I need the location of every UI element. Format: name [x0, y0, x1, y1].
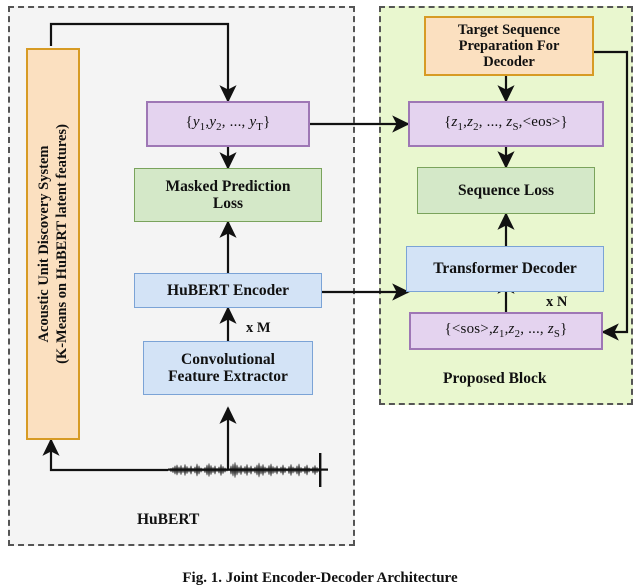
target-sequence-preparation-box[interactable]: Target Sequence Preparation For Decoder [424, 16, 594, 76]
aud-box-label: Acoustic Unit Discovery System (K-Means … [35, 51, 71, 437]
sequence-loss-label: Sequence Loss [458, 182, 554, 199]
target-sequence-label: {z1,z2, ..., zS,<eos>} [444, 114, 568, 133]
hubert-targets-label: {y1,y2, ..., yT} [185, 114, 270, 133]
prep-line-1: Target Sequence [458, 22, 560, 38]
transformer-decoder-box[interactable]: Transformer Decoder [406, 246, 604, 292]
hubert-panel-label: HuBERT [137, 511, 199, 529]
transformer-decoder-label: Transformer Decoder [433, 260, 577, 277]
conv-line-1: Convolutional [181, 351, 275, 368]
prep-line-2: Preparation For [459, 38, 560, 54]
encoder-repeat-label: x M [246, 320, 271, 337]
prep-line-3: Decoder [483, 54, 535, 70]
conv-feature-extractor-box[interactable]: Convolutional Feature Extractor [143, 341, 313, 395]
mploss-line-1: Masked Prediction [166, 178, 291, 195]
aud-line-1: Acoustic Unit Discovery System [36, 146, 52, 343]
figure-caption: Fig. 1. Joint Encoder-Decoder Architectu… [0, 570, 640, 587]
acoustic-unit-discovery-system-box[interactable]: Acoustic Unit Discovery System (K-Means … [26, 48, 80, 440]
figure-canvas: Acoustic Unit Discovery System (K-Means … [0, 0, 640, 583]
masked-prediction-loss-box[interactable]: Masked Prediction Loss [134, 168, 322, 222]
conv-line-2: Feature Extractor [168, 368, 288, 385]
decoder-input-box[interactable]: {<sos>,z1,z2, ..., zS} [409, 312, 603, 350]
hubert-encoder-label: HuBERT Encoder [167, 282, 289, 299]
sequence-loss-box[interactable]: Sequence Loss [417, 167, 595, 214]
aud-line-2: (K-Means on HuBERT latent features) [54, 124, 70, 364]
decoder-repeat-label: x N [546, 294, 567, 311]
wire-wave-to-aud [51, 440, 168, 470]
hubert-encoder-box[interactable]: HuBERT Encoder [134, 273, 322, 308]
decoder-input-label: {<sos>,z1,z2, ..., zS} [444, 321, 567, 340]
proposed-block-label: Proposed Block [443, 370, 547, 388]
target-sequence-box[interactable]: {z1,z2, ..., zS,<eos>} [408, 101, 604, 147]
mploss-line-2: Loss [213, 195, 243, 212]
hubert-targets-box[interactable]: {y1,y2, ..., yT} [146, 101, 310, 147]
